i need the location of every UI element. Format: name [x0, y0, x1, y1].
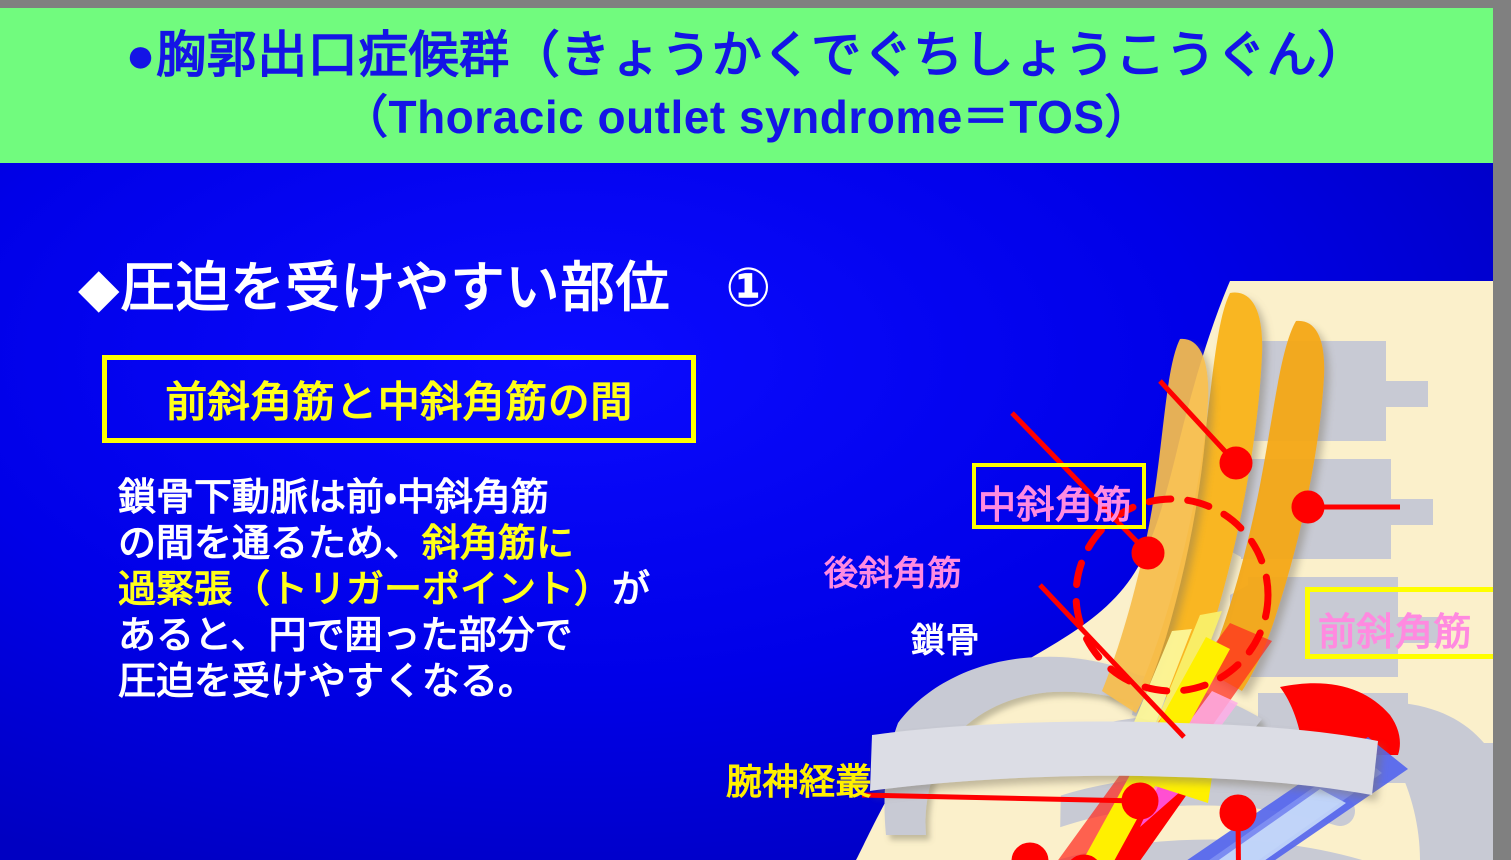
body-line: あると、円で囲った部分で — [118, 613, 738, 659]
body-text-run: が — [612, 569, 650, 611]
body-line: 鎖骨下動脈は前・中斜角筋 — [118, 475, 738, 521]
body-text-run: 圧迫を受けやすくなる。 — [118, 661, 536, 703]
body-text-run: の間を通るため、 — [118, 523, 422, 565]
label-middle-scalene: 中斜角筋 — [978, 474, 1132, 529]
body-line: 過緊張（トリガーポイント）が — [118, 567, 738, 613]
body-line: 圧迫を受けやすくなる。 — [118, 659, 738, 705]
body-text-highlight: 過緊張（トリガーポイント） — [118, 569, 612, 611]
label-anterior-scalene: 前斜角筋 — [1318, 601, 1472, 656]
body-text-run: あると、円で囲った部分で — [118, 615, 572, 657]
page-title: ◆圧迫を受けやすい部位 ① — [78, 243, 772, 322]
title-line-english: （Thoracic outlet syndrome＝TOS） — [0, 80, 1493, 140]
body-text-highlight: 斜角筋に — [422, 523, 574, 565]
label-posterior-scalene: 後斜角筋 — [824, 546, 962, 595]
slide-body: ◆圧迫を受けやすい部位 ① 前斜角筋と中斜角筋の間 鎖骨下動脈は前・中斜角筋の間… — [0, 163, 1493, 860]
keypoint-label: 前斜角筋と中斜角筋の間 — [107, 369, 691, 430]
keypoint-box: 前斜角筋と中斜角筋の間 — [102, 355, 696, 443]
slide-title-band: ●胸郭出口症候群（きょうかくでぐちしょうこうぐん） （Thoracic outl… — [0, 8, 1493, 163]
body-paragraph: 鎖骨下動脈は前・中斜角筋の間を通るため、斜角筋に過緊張（トリガーポイント）がある… — [118, 475, 738, 705]
title-line-japanese: ●胸郭出口症候群（きょうかくでぐちしょうこうぐん） — [0, 8, 1493, 80]
slide-root: ●胸郭出口症候群（きょうかくでぐちしょうこうぐん） （Thoracic outl… — [0, 0, 1511, 860]
label-brachial-plexus: 腕神経叢 — [726, 753, 872, 805]
body-line: の間を通るため、斜角筋に — [118, 521, 738, 567]
label-clavicle: 鎖骨 — [911, 613, 980, 662]
body-text-run: 鎖骨下動脈は前・中斜角筋 — [118, 477, 549, 519]
